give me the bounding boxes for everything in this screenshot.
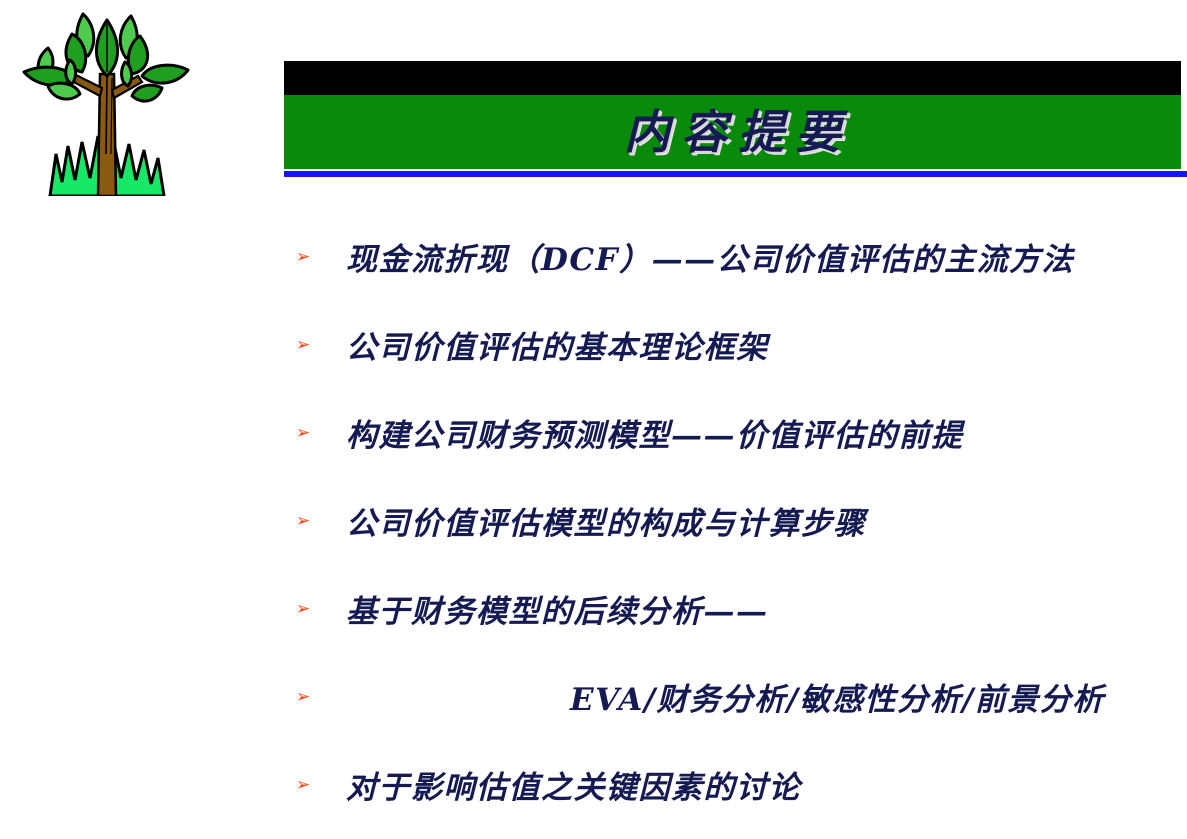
banner-black-bar	[284, 61, 1181, 95]
title-banner: 内容提要	[284, 61, 1187, 177]
bullet-item-1-label: 现金流折现（DCF）——公司价值评估的主流方法	[318, 234, 1176, 279]
bullet-item-4: ➢ 公司价值评估模型的构成与计算步骤	[296, 476, 1176, 564]
bullet-item-2: ➢ 公司价值评估的基本理论框架	[296, 300, 1176, 388]
arrow-bullet-icon: ➢	[296, 249, 318, 266]
bullet-item-7: ➢ 对于影响估值之关键因素的讨论	[296, 740, 1176, 828]
arrow-bullet-icon: ➢	[296, 601, 318, 618]
tree-clipart-image	[12, 4, 202, 196]
arrow-bullet-icon: ➢	[296, 513, 318, 530]
bullet-item-3: ➢ 构建公司财务预测模型——价值评估的前提	[296, 388, 1176, 476]
bullet-item-1: ➢ 现金流折现（DCF）——公司价值评估的主流方法	[296, 212, 1176, 300]
arrow-bullet-icon: ➢	[296, 425, 318, 442]
bullet-item-6: ➢ EVA/财务分析/敏感性分析/前景分析	[296, 652, 1176, 740]
bullet-item-7-label: 对于影响估值之关键因素的讨论	[318, 762, 1176, 807]
arrow-bullet-icon: ➢	[296, 777, 318, 794]
bullet-item-5: ➢ 基于财务模型的后续分析——	[296, 564, 1176, 652]
arrow-bullet-icon: ➢	[296, 689, 318, 706]
bullet-item-6-label: EVA/财务分析/敏感性分析/前景分析	[318, 674, 1176, 719]
bullet-list: ➢ 现金流折现（DCF）——公司价值评估的主流方法 ➢ 公司价值评估的基本理论框…	[296, 212, 1176, 828]
bullet-item-5-label: 基于财务模型的后续分析——	[318, 586, 1176, 631]
presentation-slide: 内容提要 ➢ 现金流折现（DCF）——公司价值评估的主流方法 ➢ 公司价值评估的…	[0, 0, 1187, 839]
banner-blue-rule	[284, 171, 1187, 177]
slide-title: 内容提要	[284, 95, 1181, 169]
bullet-item-2-label: 公司价值评估的基本理论框架	[318, 322, 1176, 367]
bullet-item-4-label: 公司价值评估模型的构成与计算步骤	[318, 498, 1176, 543]
bullet-item-3-label: 构建公司财务预测模型——价值评估的前提	[318, 410, 1176, 455]
arrow-bullet-icon: ➢	[296, 337, 318, 354]
